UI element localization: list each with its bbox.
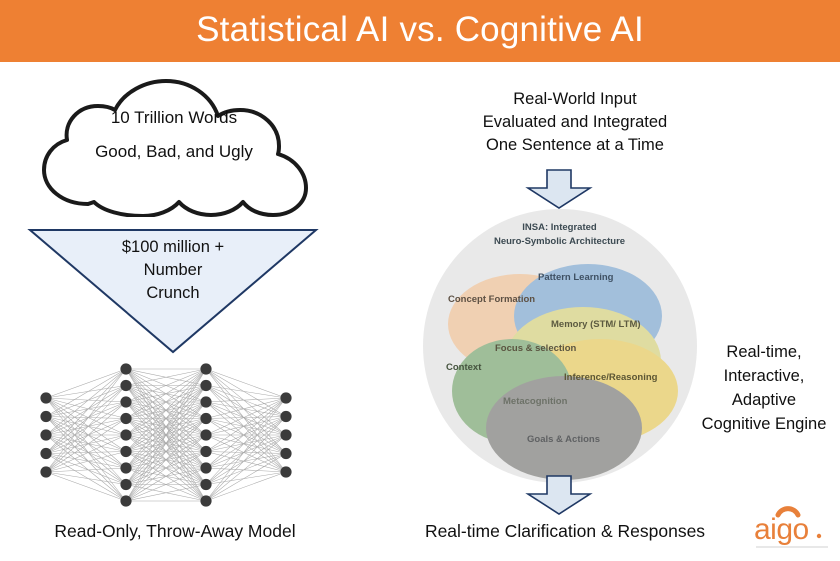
input-heading-line-1: Real-World Input [400, 88, 750, 111]
input-heading-line-2: Evaluated and Integrated [400, 111, 750, 134]
right-caption: Real-time Clarification & Responses [390, 521, 740, 542]
funnel-shape-group: $100 million + Number Crunch [18, 222, 328, 357]
funnel-line-3: Crunch [18, 282, 328, 305]
venn-label-concept-formation: Concept Formation [448, 294, 535, 305]
side-text-line-4: Cognitive Engine [688, 412, 840, 436]
venn-title: INSA: Integrated Neuro-Symbolic Architec… [452, 221, 667, 249]
right-side-text: Real-time, Interactive, Adaptive Cogniti… [688, 340, 840, 436]
venn-label-context: Context [446, 362, 481, 373]
page-title: Statistical AI vs. Cognitive AI [0, 4, 840, 56]
funnel-line-2: Number [18, 259, 328, 282]
down-arrow-icon [524, 474, 594, 516]
venn-label-goals-actions: Goals & Actions [527, 434, 600, 445]
venn-label-metacognition: Metacognition [503, 396, 567, 407]
venn-label-inference-reasoning: Inference/Reasoning [564, 372, 657, 383]
funnel-line-1: $100 million + [18, 236, 328, 259]
cloud-line-1: 10 Trillion Words [14, 108, 334, 128]
side-text-line-2: Interactive, [688, 364, 840, 388]
cloud-text-block: 10 Trillion Words Good, Bad, and Ugly [14, 108, 334, 162]
input-heading-line-3: One Sentence at a Time [400, 134, 750, 157]
cloud-line-2: Good, Bad, and Ugly [14, 142, 334, 162]
venn-label-focus-selection: Focus & selection [495, 343, 576, 354]
venn-title-line-2: Neuro-Symbolic Architecture [452, 235, 667, 249]
neural-network-group [18, 360, 338, 510]
neural-network-icon [18, 360, 338, 510]
cloud-shape-group: 10 Trillion Words Good, Bad, and Ugly [14, 72, 334, 217]
down-arrow-bottom [524, 474, 594, 516]
side-text-line-3: Adaptive [688, 388, 840, 412]
right-input-heading: Real-World Input Evaluated and Integrate… [400, 88, 750, 157]
venn-title-line-1: INSA: Integrated [452, 221, 667, 235]
venn-label-memory: Memory (STM/ LTM) [551, 319, 641, 330]
side-text-line-1: Real-time, [688, 340, 840, 364]
aigo-logo-icon: aigo [752, 503, 832, 551]
slide-canvas: Statistical AI vs. Cognitive AI 10 Trill… [0, 0, 840, 561]
svg-text:aigo: aigo [754, 513, 809, 546]
down-arrow-icon [524, 168, 594, 210]
aigo-logo: aigo [752, 503, 832, 551]
left-caption: Read-Only, Throw-Away Model [0, 521, 350, 542]
funnel-text-block: $100 million + Number Crunch [18, 236, 328, 305]
down-arrow-top [524, 168, 594, 210]
venn-ellipse-goals-actions [486, 376, 642, 480]
venn-label-pattern-learning: Pattern Learning [538, 272, 614, 283]
